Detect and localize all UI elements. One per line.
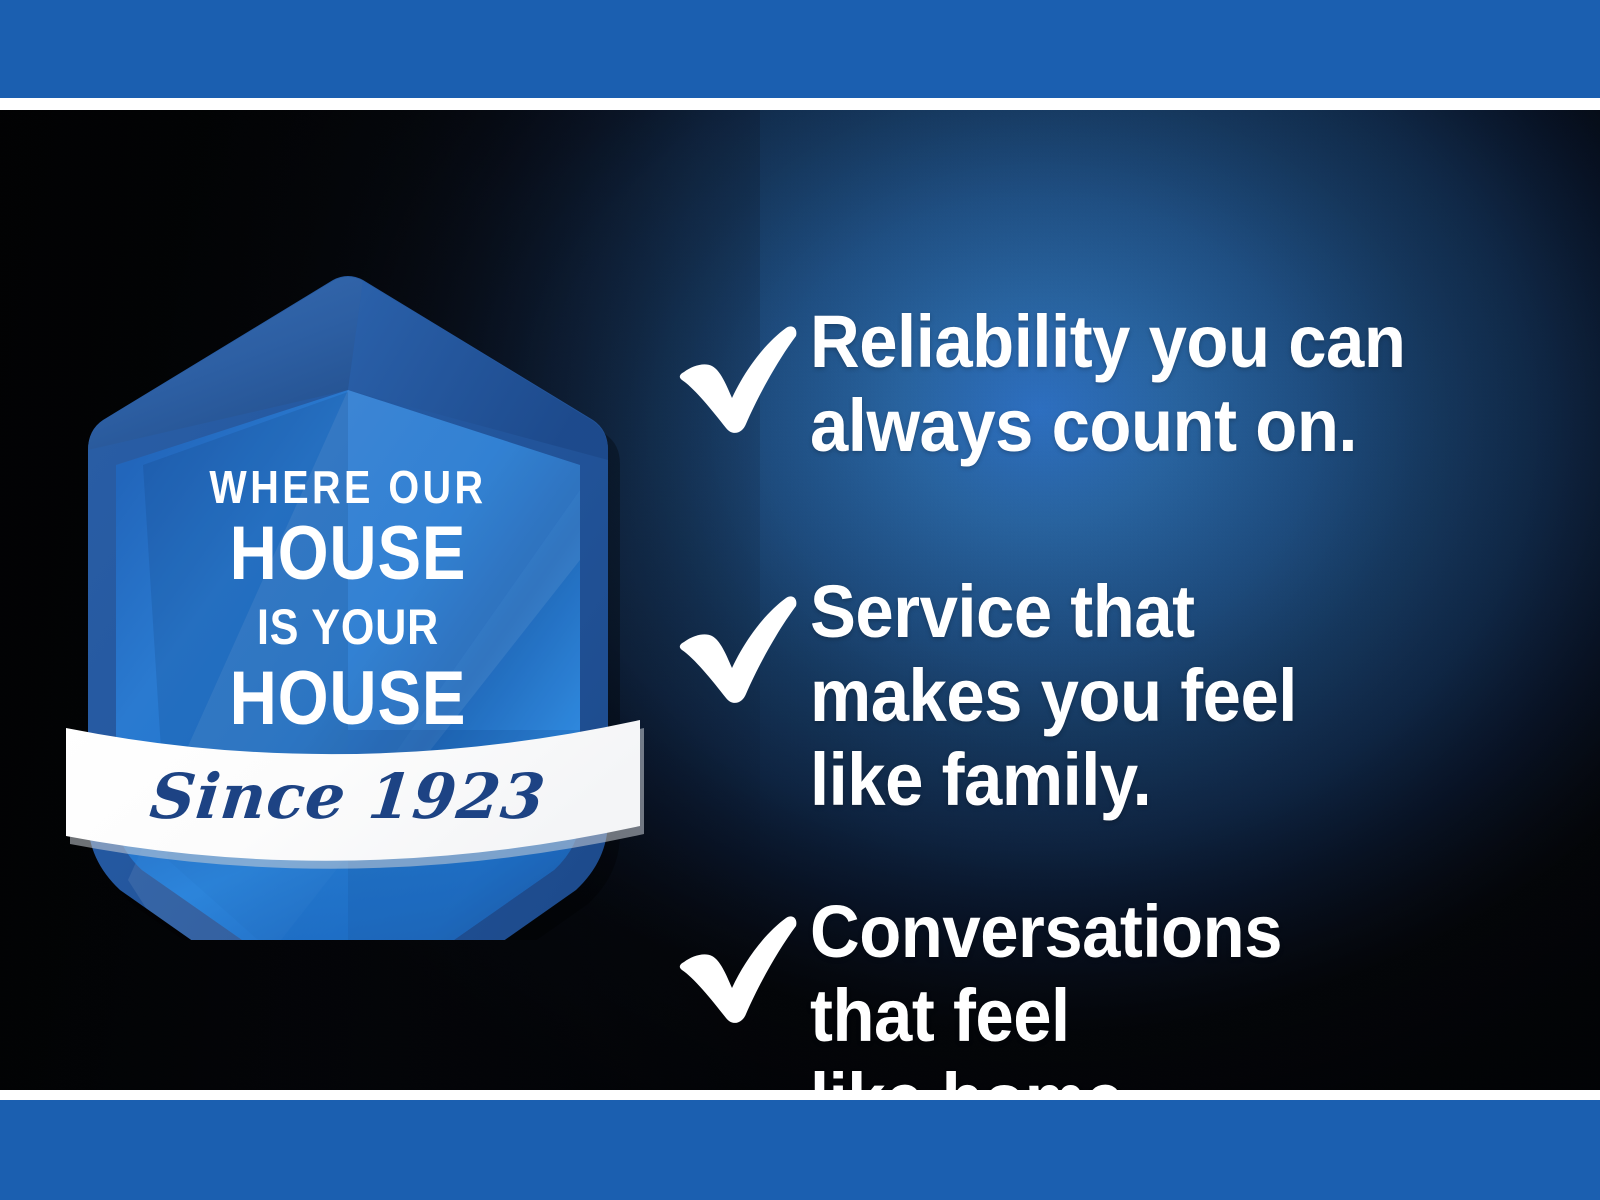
benefit-item-3: Conversations that feel like home. bbox=[660, 890, 1560, 1090]
benefits-list: Reliability you can always count on. Ser… bbox=[660, 300, 1560, 1090]
benefit-item-2: Service that makes you feel like family. bbox=[660, 570, 1560, 890]
checkmark-icon bbox=[660, 584, 810, 714]
checkmark-icon bbox=[660, 314, 810, 444]
checkmark-icon bbox=[660, 904, 810, 1034]
benefit-text-3: Conversations that feel like home. bbox=[810, 890, 1508, 1090]
main-stage: Where Our House Is Your House Since 1923… bbox=[0, 110, 1600, 1090]
top-brand-bar bbox=[0, 0, 1600, 98]
shield-logo-graphic bbox=[48, 260, 648, 940]
promo-banner: Where Our House Is Your House Since 1923… bbox=[0, 0, 1600, 1200]
bottom-brand-bar bbox=[0, 1100, 1600, 1200]
shield-logo: Where Our House Is Your House Since 1923 bbox=[48, 260, 648, 940]
top-divider bbox=[0, 98, 1600, 110]
benefit-text-1: Reliability you can always count on. bbox=[810, 300, 1508, 468]
benefit-text-2: Service that makes you feel like family. bbox=[810, 570, 1508, 822]
bottom-divider bbox=[0, 1090, 1600, 1100]
benefit-item-1: Reliability you can always count on. bbox=[660, 300, 1560, 570]
